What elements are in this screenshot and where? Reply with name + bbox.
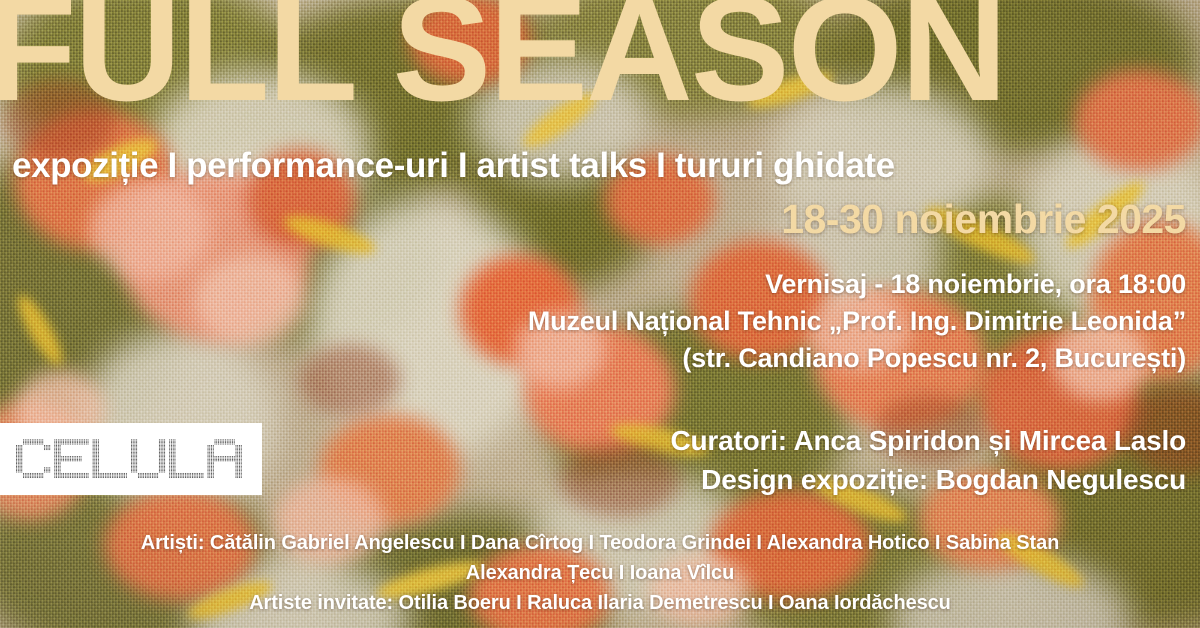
exhibition-poster: FULL SEASON expoziție I performance-uri … xyxy=(0,0,1200,628)
artists-line-1: Artiști: Cătălin Gabriel Angelescu I Dan… xyxy=(0,528,1200,558)
artists-line-2: Alexandra Țecu I Ioana Vîlcu xyxy=(0,558,1200,588)
poster-content: FULL SEASON expoziție I performance-uri … xyxy=(0,0,1200,628)
exhibition-design-line: Design expoziție: Bogdan Negulescu xyxy=(671,461,1187,500)
vernissage-line: Vernisaj - 18 noiembrie, ora 18:00 xyxy=(528,266,1186,303)
poster-title: FULL SEASON xyxy=(0,0,1200,124)
credits-block: Curatori: Anca Spiridon și Mircea Laslo … xyxy=(671,422,1187,499)
venue-address-line: (str. Candiano Popescu nr. 2, București) xyxy=(528,340,1186,377)
guest-artists-line: Artiste invitate: Otilia Boeru I Raluca … xyxy=(0,588,1200,618)
venue-name-line: Muzeul Național Tehnic „Prof. Ing. Dimit… xyxy=(528,303,1186,340)
celula-dot-matrix-logo xyxy=(15,437,247,481)
curators-line: Curatori: Anca Spiridon și Mircea Laslo xyxy=(671,422,1187,461)
celula-logo-plate xyxy=(0,423,262,495)
poster-subtitle: expoziție I performance-uri I artist tal… xyxy=(12,146,1192,186)
venue-block: Vernisaj - 18 noiembrie, ora 18:00 Muzeu… xyxy=(528,266,1186,377)
artists-block: Artiști: Cătălin Gabriel Angelescu I Dan… xyxy=(0,528,1200,618)
poster-dates: 18-30 noiembrie 2025 xyxy=(781,196,1186,243)
